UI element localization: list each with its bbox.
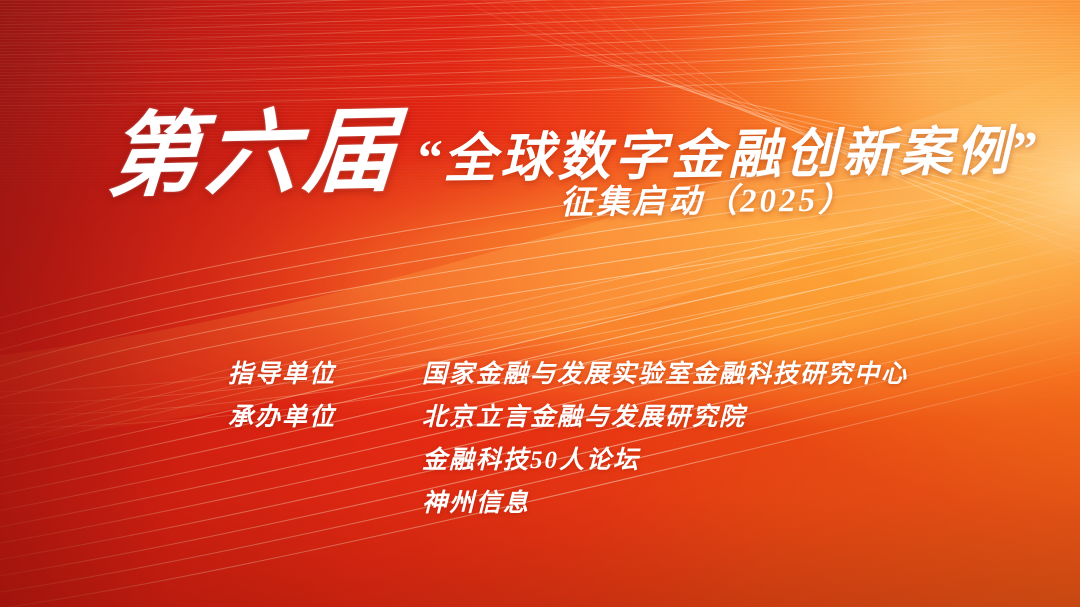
ordinal-title: 第六届 <box>105 105 406 203</box>
credits-block: 指导单位 国家金融与发展实验室金融科技研究中心 承办单位 北京立言金融与发展研究… <box>228 358 988 530</box>
credit-value: 北京立言金融与发展研究院 <box>422 401 746 434</box>
headline-row: 第六届 “全球数字金融创新案例” <box>0 112 1080 224</box>
poster-canvas: 第六届 “全球数字金融创新案例” 征集启动（2025） 指导单位 国家金融与发展… <box>0 0 1080 607</box>
credit-value: 神州信息 <box>422 487 530 520</box>
credit-label: 指导单位 <box>228 358 422 391</box>
credit-row: 神州信息 <box>228 487 988 530</box>
case-title-text: 全球数字金融创新案例 <box>443 123 1014 189</box>
poster-content: 第六届 “全球数字金融创新案例” 征集启动（2025） 指导单位 国家金融与发展… <box>0 0 1080 607</box>
case-title: “全球数字金融创新案例” <box>418 124 1039 188</box>
open-quote-mark: “ <box>418 129 444 185</box>
credit-row: 承办单位 北京立言金融与发展研究院 <box>228 401 988 444</box>
credit-row: 金融科技50人论坛 <box>228 444 988 487</box>
credit-value: 国家金融与发展实验室金融科技研究中心 <box>422 358 908 391</box>
credit-value: 金融科技50人论坛 <box>422 444 640 477</box>
subtitle: 征集启动（2025） <box>560 184 854 220</box>
close-quote-mark: ” <box>1013 121 1039 177</box>
credit-row: 指导单位 国家金融与发展实验室金融科技研究中心 <box>228 358 988 401</box>
credit-label: 承办单位 <box>228 401 422 434</box>
